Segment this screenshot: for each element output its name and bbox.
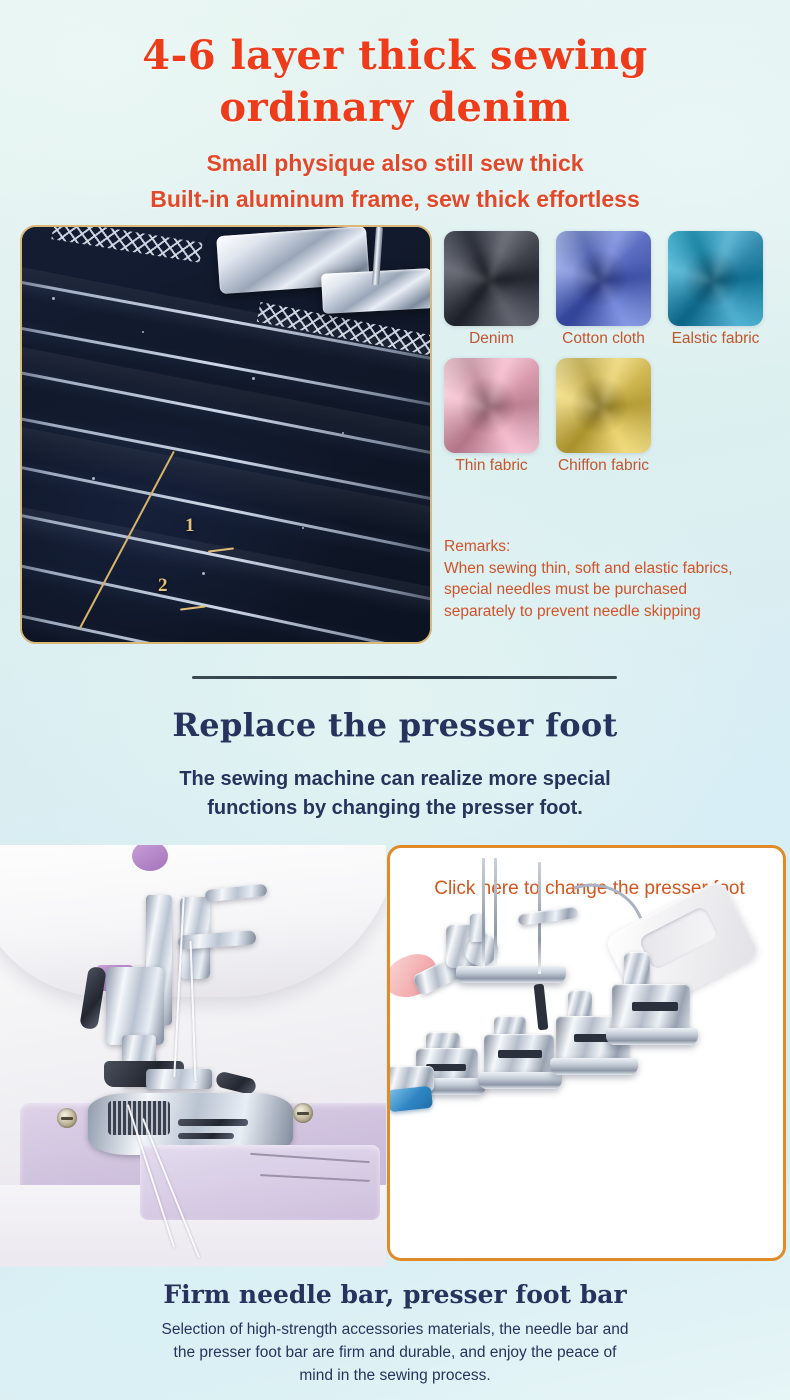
fabric-swatch-chiffon-fabric bbox=[556, 358, 651, 453]
denim-speck bbox=[52, 297, 55, 300]
needle-plate-slot bbox=[178, 1133, 234, 1139]
denim-speck bbox=[142, 331, 144, 333]
fabric-cell-ealstic-fabric: Ealstic fabric bbox=[668, 231, 763, 348]
fabric-label: Chiffon fabric bbox=[556, 457, 651, 475]
fabric-cell-chiffon-fabric: Chiffon fabric bbox=[556, 358, 651, 475]
presser-foot-accessories-panel: Click here to change the presser foot bbox=[387, 845, 786, 1261]
sewing-machine-photo bbox=[0, 845, 386, 1267]
section-2-description: The sewing machine can realize more spec… bbox=[95, 765, 695, 823]
denim-speck bbox=[252, 377, 255, 380]
fabric-texture bbox=[444, 358, 539, 453]
fabric-texture bbox=[556, 231, 651, 326]
fabric-row-1: Denim Cotton cloth Ealstic fabric bbox=[444, 231, 784, 348]
footer-description: Selection of high-strength accessories m… bbox=[105, 1318, 685, 1387]
fabric-swatch-ealstic-fabric bbox=[668, 231, 763, 326]
page-title: 4-6 layer thick sewing ordinary denim bbox=[0, 0, 790, 134]
foot-2-sole bbox=[478, 1072, 562, 1089]
feed-dog bbox=[108, 1101, 170, 1135]
footer-title: Firm needle bar, presser foot bar bbox=[0, 1280, 790, 1309]
fabric-label: Thin fabric bbox=[444, 457, 539, 475]
foot-4-sole bbox=[606, 1028, 698, 1045]
fabric-texture bbox=[556, 358, 651, 453]
foot-4-shank bbox=[624, 952, 650, 988]
fabric-cell-thin-fabric: Thin fabric bbox=[444, 358, 539, 475]
section-divider bbox=[192, 676, 617, 679]
foot-4-slot bbox=[632, 1002, 678, 1011]
denim-speck bbox=[202, 572, 205, 575]
denim-speck bbox=[342, 432, 344, 434]
denim-speck bbox=[302, 527, 304, 529]
remarks-line-2: special needles must be purchased bbox=[444, 579, 790, 601]
remarks-heading: Remarks: bbox=[444, 536, 790, 558]
plate-screw bbox=[293, 1103, 313, 1123]
remarks-block: Remarks: When sewing thin, soft and elas… bbox=[444, 536, 790, 622]
photo-row: Click here to change the presser foot bbox=[0, 845, 790, 1267]
fabric-label: Cotton cloth bbox=[556, 330, 651, 348]
product-detail-page: 4-6 layer thick sewing ordinary denim Sm… bbox=[0, 0, 790, 1400]
presser-foot-sole-right bbox=[146, 1069, 212, 1089]
layer-marker-3: 3 bbox=[117, 639, 127, 644]
fabric-texture bbox=[668, 231, 763, 326]
needle-rod-right bbox=[494, 858, 497, 966]
foot-2-slot bbox=[498, 1050, 542, 1058]
title-line-1: 4-6 layer thick sewing bbox=[0, 30, 790, 82]
fabric-cell-denim: Denim bbox=[444, 231, 539, 348]
footer-desc-line-2: the presser foot bar are firm and durabl… bbox=[105, 1341, 685, 1364]
remarks-line-3: separately to prevent needle skipping bbox=[444, 601, 790, 623]
fabric-label: Ealstic fabric bbox=[668, 330, 763, 348]
header-block: 4-6 layer thick sewing ordinary denim Sm… bbox=[0, 0, 790, 214]
fabric-row-2: Thin fabric Chiffon fabric bbox=[444, 358, 784, 475]
section-2-desc-line-2: functions by changing the presser foot. bbox=[95, 794, 695, 823]
foot-release-lever bbox=[215, 1070, 258, 1095]
bobbin-cover bbox=[140, 1145, 380, 1220]
foot-3-guide-blade bbox=[534, 984, 549, 1031]
fabric-swatch-denim bbox=[444, 231, 539, 326]
needle-rod-left bbox=[482, 858, 485, 968]
fabric-swatch-grid: Denim Cotton cloth Ealstic fabric Th bbox=[444, 231, 784, 475]
fabric-texture bbox=[444, 231, 539, 326]
plate-screw bbox=[57, 1108, 77, 1128]
fabric-swatch-cotton-cloth bbox=[556, 231, 651, 326]
denim-speck bbox=[92, 477, 95, 480]
layer-marker-1: 1 bbox=[185, 515, 195, 537]
foot-3-sole bbox=[550, 1058, 638, 1075]
section-2-desc-line-1: The sewing machine can realize more spec… bbox=[95, 765, 695, 794]
fabric-label: Denim bbox=[444, 330, 539, 348]
remarks-line-1: When sewing thin, soft and elastic fabri… bbox=[444, 558, 790, 580]
presser-foot-holder bbox=[106, 967, 164, 1045]
fabric-swatch-thin-fabric bbox=[444, 358, 539, 453]
title-line-2: ordinary denim bbox=[0, 82, 790, 134]
section-2-title: Replace the presser foot bbox=[0, 706, 790, 744]
blue-accessory bbox=[387, 1086, 433, 1112]
layer-marker-2: 2 bbox=[158, 575, 168, 597]
header-subtitle-1: Small physique also still sew thick bbox=[0, 148, 790, 178]
header-subtitle-2: Built-in aluminum frame, sew thick effor… bbox=[0, 184, 790, 214]
needle-plate-slot bbox=[178, 1119, 248, 1126]
fabric-cell-cotton-cloth: Cotton cloth bbox=[556, 231, 651, 348]
denim-stitching-photo: 1 2 3 4 5 bbox=[20, 225, 432, 644]
footer-desc-line-1: Selection of high-strength accessories m… bbox=[105, 1318, 685, 1341]
attached-foot-sole bbox=[456, 966, 566, 983]
footer-desc-line-3: mind in the sewing process. bbox=[105, 1364, 685, 1387]
